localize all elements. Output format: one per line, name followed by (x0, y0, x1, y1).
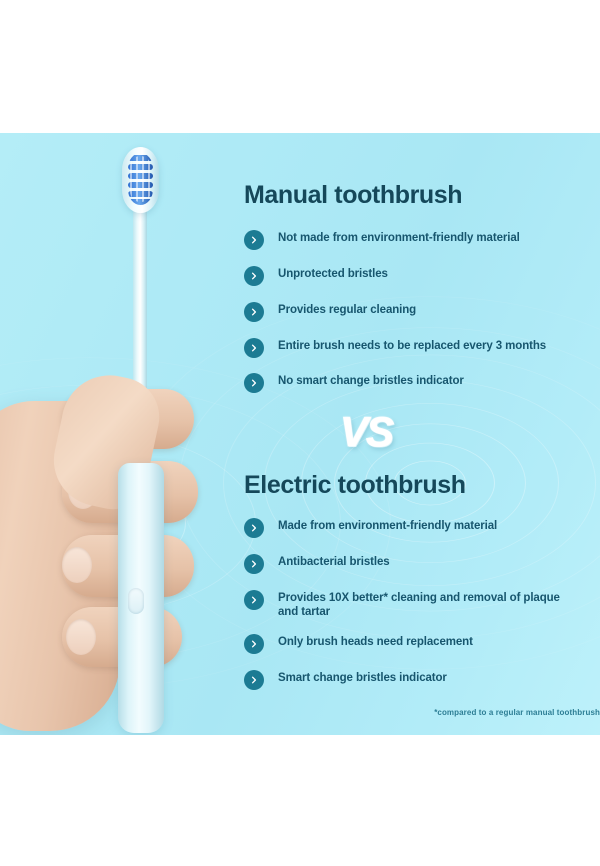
manual-feature-list: Not made from environment-friendly mater… (244, 229, 600, 408)
chevron-right-icon (244, 590, 264, 610)
list-item: Entire brush needs to be replaced every … (244, 337, 600, 358)
list-item: Unprotected bristles (244, 265, 600, 286)
list-item-label: Provides regular cleaning (278, 301, 416, 317)
chevron-right-icon (244, 518, 264, 538)
vs-badge: VS (340, 408, 392, 456)
chevron-right-icon (244, 302, 264, 322)
chevron-right-icon (244, 634, 264, 654)
chevron-right-icon (244, 266, 264, 286)
list-item-label: Unprotected bristles (278, 265, 388, 281)
fingernail-4 (66, 619, 96, 655)
manual-heading: Manual toothbrush (244, 183, 462, 208)
list-item: Smart change bristles indicator (244, 669, 600, 690)
hand-image (0, 383, 220, 735)
infographic-page: Dr.Dent Manual toothbrush Not made from … (0, 0, 600, 866)
footnote-text: *compared to a regular manual toothbrush (434, 708, 600, 717)
list-item: Made from environment-friendly material (244, 517, 600, 538)
list-item-label: Smart change bristles indicator (278, 669, 447, 685)
comparison-banner: Dr.Dent Manual toothbrush Not made from … (0, 133, 600, 735)
chevron-right-icon (244, 670, 264, 690)
product-photo: Dr.Dent (0, 133, 240, 735)
list-item-label: No smart change bristles indicator (278, 372, 464, 388)
list-item-label: Antibacterial bristles (278, 553, 390, 569)
power-button-icon (128, 588, 144, 614)
list-item: No smart change bristles indicator (244, 372, 600, 393)
list-item: Provides regular cleaning (244, 301, 600, 322)
list-item-label: Made from environment-friendly material (278, 517, 497, 533)
list-item: Not made from environment-friendly mater… (244, 229, 600, 250)
list-item: Antibacterial bristles (244, 553, 600, 574)
list-item-label: Only brush heads need replacement (278, 633, 473, 649)
list-item: Only brush heads need replacement (244, 633, 600, 654)
list-item-label: Provides 10X better* cleaning and remova… (278, 589, 568, 619)
comparison-content: Manual toothbrush Not made from environm… (244, 133, 600, 735)
list-item: Provides 10X better* cleaning and remova… (244, 589, 600, 619)
fingernail-3 (62, 547, 92, 583)
list-item-label: Entire brush needs to be replaced every … (278, 337, 546, 353)
toothbrush-bristles-icon (128, 153, 153, 205)
chevron-right-icon (244, 554, 264, 574)
electric-feature-list: Made from environment-friendly material … (244, 517, 600, 705)
electric-heading: Electric toothbrush (244, 473, 466, 498)
list-item-label: Not made from environment-friendly mater… (278, 229, 520, 245)
chevron-right-icon (244, 373, 264, 393)
chevron-right-icon (244, 338, 264, 358)
chevron-right-icon (244, 230, 264, 250)
